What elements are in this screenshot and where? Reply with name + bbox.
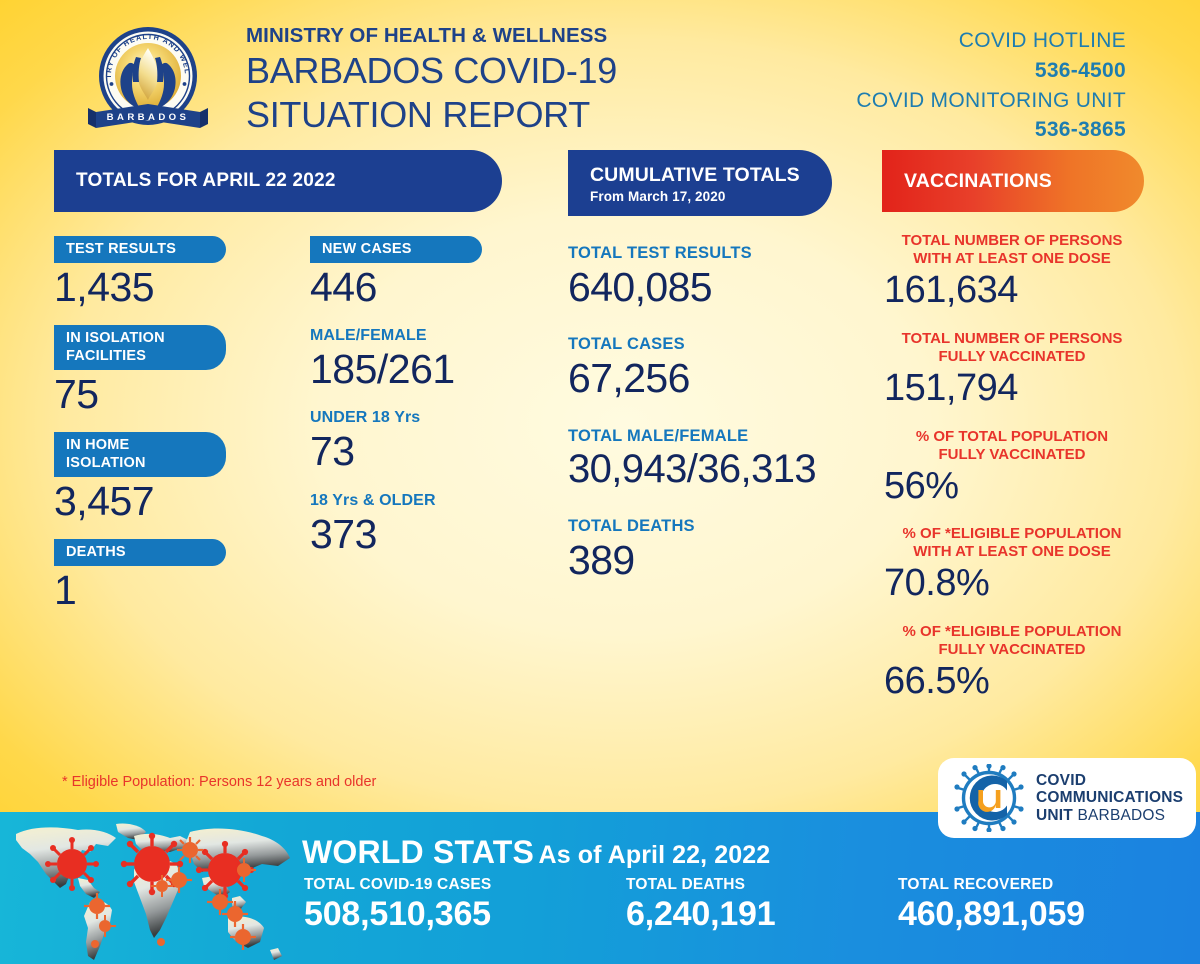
stat-label-text-line2: ISOLATION [66, 455, 200, 472]
stat-value: 640,085 [568, 265, 868, 309]
svg-text:BARBADOS: BARBADOS [107, 112, 190, 123]
ministry-name: MINISTRY OF HEALTH & WELLNESS [246, 22, 866, 50]
stat-deaths: DEATHS 1 [54, 539, 294, 612]
stat-value: 446 [310, 266, 550, 309]
world-stats-title: WORLD STATS As of April 22, 2022 [302, 834, 770, 871]
world-stat-total-recovered: TOTAL RECOVERED 460,891,059 [898, 876, 1085, 934]
stat-label-line1: TOTAL NUMBER OF PERSONS [876, 330, 1148, 348]
stat-new-cases: NEW CASES 446 [310, 236, 550, 309]
stat-label-line1: TOTAL NUMBER OF PERSONS [876, 232, 1148, 250]
hotline-label: COVID HOTLINE [856, 26, 1126, 56]
stat-value: 460,891,059 [898, 895, 1085, 934]
stat-label-text: TEST RESULTS [66, 241, 200, 258]
stat-total-deaths: TOTAL DEATHS 389 [568, 517, 868, 582]
ccu-line3-barbados: BARBADOS [1077, 807, 1165, 824]
world-stat-total-deaths: TOTAL DEATHS 6,240,191 [626, 876, 775, 934]
stat-total-cases: TOTAL CASES 67,256 [568, 335, 868, 400]
stat-label-text: DEATHS [66, 544, 200, 561]
stat-label: TOTAL CASES [568, 335, 868, 354]
stat-value: 67,256 [568, 356, 868, 400]
stat-label: IN HOME ISOLATION [54, 432, 226, 477]
stat-label: DEATHS [54, 539, 226, 566]
stat-label-text-line2: FACILITIES [66, 348, 200, 365]
monitoring-unit-label: COVID MONITORING UNIT [856, 86, 1126, 116]
vaccinations-title: VACCINATIONS [904, 170, 1144, 193]
stat-label-line2: FULLY VACCINATED [876, 641, 1148, 659]
stat-value: 151,794 [876, 368, 1148, 410]
stat-label-line1: % OF *ELIGIBLE POPULATION [876, 525, 1148, 543]
stat-label: TOTAL DEATHS [626, 876, 775, 894]
stat-value: 1,435 [54, 266, 294, 309]
eligible-population-footnote: * Eligible Population: Persons 12 years … [62, 774, 376, 790]
stat-at-least-one-dose: TOTAL NUMBER OF PERSONS WITH AT LEAST ON… [876, 232, 1148, 312]
stat-value: 185/261 [310, 348, 550, 391]
page-title: MINISTRY OF HEALTH & WELLNESS BARBADOS C… [246, 22, 866, 136]
stat-in-home-isolation: IN HOME ISOLATION 3,457 [54, 432, 294, 523]
daily-totals-section-header: TOTALS FOR APRIL 22 2022 [54, 150, 502, 212]
daily-totals-title: TOTALS FOR APRIL 22 2022 [76, 170, 502, 192]
cumulative-stats-column: TOTAL TEST RESULTS 640,085 TOTAL CASES 6… [568, 244, 868, 608]
stat-label-line1: % OF TOTAL POPULATION [876, 428, 1148, 446]
stat-pct-total-population-fully-vaccinated: % OF TOTAL POPULATION FULLY VACCINATED 5… [876, 428, 1148, 508]
world-stats-heading: WORLD STATS [302, 834, 534, 870]
hotline-number[interactable]: 536-4500 [856, 56, 1126, 86]
stat-pct-eligible-fully-vaccinated: % OF *ELIGIBLE POPULATION FULLY VACCINAT… [876, 623, 1148, 703]
stat-value: 3,457 [54, 480, 294, 523]
stat-label: TOTAL NUMBER OF PERSONS WITH AT LEAST ON… [876, 232, 1148, 268]
stat-label: TEST RESULTS [54, 236, 226, 263]
stat-new-cases-under-18: UNDER 18 Yrs 73 [310, 409, 550, 473]
stat-label: TOTAL DEATHS [568, 517, 868, 536]
stat-total-male-female: TOTAL MALE/FEMALE 30,943/36,313 [568, 427, 868, 491]
stat-label: TOTAL MALE/FEMALE [568, 427, 868, 446]
ccu-line3: UNIT BARBADOS [1036, 807, 1183, 825]
stat-label-text-line1: IN ISOLATION [66, 330, 200, 347]
stat-value: 75 [54, 373, 294, 416]
stat-label: TOTAL TEST RESULTS [568, 244, 868, 263]
poster-header: MINISTRY OF HEALTH AND WELLNESS BARBADOS… [0, 0, 1200, 148]
stat-label: % OF *ELIGIBLE POPULATION WITH AT LEAST … [876, 525, 1148, 561]
stat-label: % OF TOTAL POPULATION FULLY VACCINATED [876, 428, 1148, 464]
vaccinations-section-header: VACCINATIONS [882, 150, 1144, 212]
stat-label-text-line1: IN HOME [66, 437, 200, 454]
stat-value: 70.8% [876, 563, 1148, 605]
stat-new-cases-18-and-older: 18 Yrs & OLDER 373 [310, 492, 550, 556]
stat-fully-vaccinated: TOTAL NUMBER OF PERSONS FULLY VACCINATED… [876, 330, 1148, 410]
situation-report-poster: MINISTRY OF HEALTH AND WELLNESS BARBADOS… [0, 0, 1200, 964]
ccu-logo-text: COVID COMMUNICATIONS UNIT BARBADOS [1036, 772, 1183, 825]
stat-label: % OF *ELIGIBLE POPULATION FULLY VACCINAT… [876, 623, 1148, 659]
ministry-of-health-and-wellness-seal: MINISTRY OF HEALTH AND WELLNESS BARBADOS [78, 24, 218, 140]
hotline-block: COVID HOTLINE 536-4500 COVID MONITORING … [856, 26, 1126, 145]
daily-stats-column-1: TEST RESULTS 1,435 IN ISOLATION FACILITI… [54, 236, 294, 629]
stat-new-cases-male-female: MALE/FEMALE 185/261 [310, 327, 550, 391]
stat-label: 18 Yrs & OLDER [310, 492, 550, 510]
covid-communications-unit-logo: COVID COMMUNICATIONS UNIT BARBADOS [938, 758, 1196, 838]
stat-label: UNDER 18 Yrs [310, 409, 550, 427]
stat-value: 56% [876, 466, 1148, 508]
world-stat-total-cases: TOTAL COVID-19 CASES 508,510,365 [304, 876, 491, 934]
cumulative-totals-section-header: CUMULATIVE TOTALS From March 17, 2020 [568, 150, 832, 216]
stat-label-line2: WITH AT LEAST ONE DOSE [876, 250, 1148, 268]
stat-value: 161,634 [876, 270, 1148, 312]
stat-label: TOTAL NUMBER OF PERSONS FULLY VACCINATED [876, 330, 1148, 366]
stat-value: 508,510,365 [304, 895, 491, 934]
stat-pct-eligible-at-least-one-dose: % OF *ELIGIBLE POPULATION WITH AT LEAST … [876, 525, 1148, 605]
stat-label: NEW CASES [310, 236, 482, 263]
stat-label: TOTAL COVID-19 CASES [304, 876, 491, 894]
stat-test-results: TEST RESULTS 1,435 [54, 236, 294, 309]
stat-label-line2: FULLY VACCINATED [876, 348, 1148, 366]
stat-value: 73 [310, 430, 550, 473]
stat-label-line2: FULLY VACCINATED [876, 446, 1148, 464]
ccu-line1: COVID [1036, 772, 1183, 790]
cumulative-totals-title: CUMULATIVE TOTALS [590, 164, 832, 186]
stat-value: 373 [310, 513, 550, 556]
stat-label-text: NEW CASES [322, 241, 456, 258]
stat-label: TOTAL RECOVERED [898, 876, 1085, 894]
stat-value: 6,240,191 [626, 895, 775, 934]
ccu-line2: COMMUNICATIONS [1036, 789, 1183, 807]
stat-label-line1: % OF *ELIGIBLE POPULATION [876, 623, 1148, 641]
stat-value: 30,943/36,313 [568, 448, 868, 491]
world-map-with-virus-markers [4, 818, 296, 964]
stat-value: 66.5% [876, 661, 1148, 703]
stat-label-line2: WITH AT LEAST ONE DOSE [876, 543, 1148, 561]
monitoring-unit-number[interactable]: 536-3865 [856, 115, 1126, 145]
stat-label: IN ISOLATION FACILITIES [54, 325, 226, 370]
stat-in-isolation-facilities: IN ISOLATION FACILITIES 75 [54, 325, 294, 416]
stat-value: 389 [568, 538, 868, 582]
cumulative-totals-subtitle: From March 17, 2020 [590, 189, 832, 204]
stat-label: MALE/FEMALE [310, 327, 550, 345]
vaccinations-column: TOTAL NUMBER OF PERSONS WITH AT LEAST ON… [876, 232, 1148, 721]
report-title-line1: BARBADOS COVID-19 [246, 49, 866, 93]
daily-stats-column-2: NEW CASES 446 MALE/FEMALE 185/261 UNDER … [310, 236, 550, 574]
stat-total-test-results: TOTAL TEST RESULTS 640,085 [568, 244, 868, 309]
stat-value: 1 [54, 569, 294, 612]
covid-virus-c-logo [952, 764, 1026, 832]
ccu-line3-unit: UNIT [1036, 807, 1077, 824]
world-stats-as-of: As of April 22, 2022 [539, 841, 771, 869]
report-title-line2: SITUATION REPORT [246, 93, 866, 137]
